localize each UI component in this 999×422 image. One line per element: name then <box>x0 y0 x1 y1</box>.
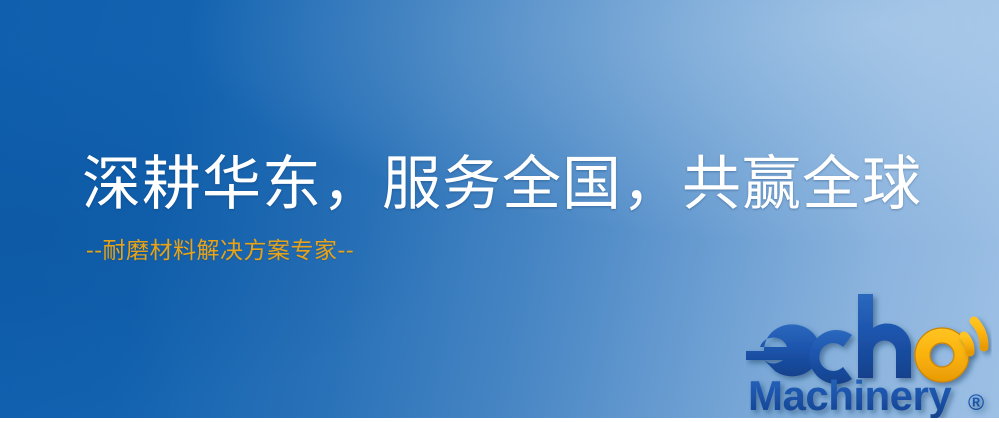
logo-tagline: Machinery ® <box>748 372 984 418</box>
hero-subtitle: --耐磨材料解决方案专家-- <box>86 238 942 266</box>
echo-wave-icon <box>964 321 984 352</box>
bottom-white-strip <box>0 418 999 422</box>
hero-headline: 深耕华东，服务全国，共赢全球 <box>82 152 942 216</box>
logo-wordmark-echo <box>746 294 969 384</box>
logo-artwork: Machinery ® <box>746 292 998 418</box>
hero-text-block: 深耕华东，服务全国，共赢全球 --耐磨材料解决方案专家-- <box>82 152 942 265</box>
logo-tagline-text: Machinery <box>748 372 952 418</box>
hero-banner: 深耕华东，服务全国，共赢全球 --耐磨材料解决方案专家-- <box>0 0 999 422</box>
echo-machinery-logo[interactable]: Machinery ® <box>746 292 998 418</box>
registered-trademark-mark: ® <box>968 390 984 415</box>
